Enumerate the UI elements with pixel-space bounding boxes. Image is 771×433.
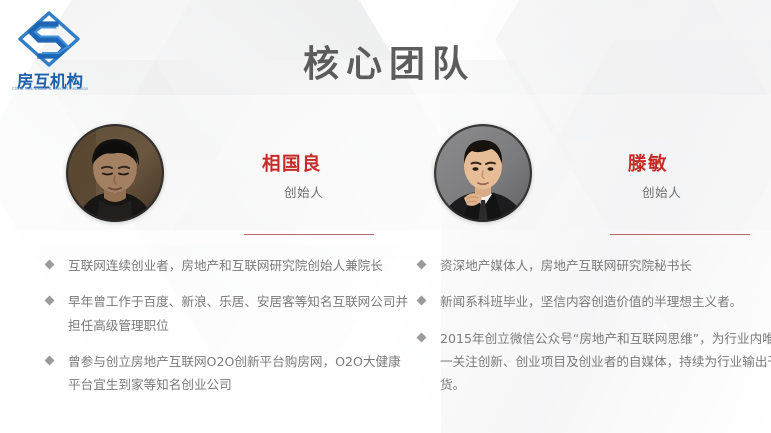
member-header: 滕敏 创始人 [390, 118, 762, 238]
member-header: 相国良 创始人 [18, 118, 390, 238]
member-divider [610, 234, 750, 235]
diamond-bullet-icon [45, 355, 55, 365]
list-item-text: 早年曾工作于百度、新浪、乐居、安居客等知名互联网公司并担任高级管理职位 [68, 290, 410, 337]
team-members: 相国良 创始人 互联网连续创业者，房地产和互联网研究院创始人兼院长 早年曾工作于… [0, 118, 771, 433]
member-divider [244, 234, 374, 235]
list-item: 2015年创立微信公众号“房地产和互联网思维”，为行业内唯一关注创新、创业项目及… [410, 327, 771, 397]
avatar [434, 124, 532, 222]
list-item: 互联网连续创业者，房地产和互联网研究院创始人兼院长 [38, 254, 410, 277]
list-item-text: 新闻系科班毕业，坚信内容创造价值的半理想主义者。 [440, 290, 771, 313]
list-item: 早年曾工作于百度、新浪、乐居、安居客等知名互联网公司并担任高级管理职位 [38, 290, 410, 337]
list-item-text: 资深地产媒体人，房地产互联网研究院秘书长 [440, 254, 771, 277]
avatar [66, 124, 164, 222]
member-bullet-list: 互联网连续创业者，房地产和互联网研究院创始人兼院长 早年曾工作于百度、新浪、乐居… [18, 254, 410, 409]
member-role: 创始人 [642, 182, 681, 201]
team-member-card: 相国良 创始人 互联网连续创业者，房地产和互联网研究院创始人兼院长 早年曾工作于… [18, 118, 390, 433]
member-role: 创始人 [284, 182, 323, 201]
list-item: 新闻系科班毕业，坚信内容创造价值的半理想主义者。 [410, 290, 771, 313]
list-item: 曾参与创立房地产互联网O2O创新平台购房网，O2O大健康平台宜生到家等知名创业公… [38, 350, 410, 397]
team-member-card: 滕敏 创始人 资深地产媒体人，房地产互联网研究院秘书长 新闻系科班毕业，坚信内容… [390, 118, 762, 433]
diamond-bullet-icon [45, 260, 55, 270]
diamond-bullet-icon [417, 296, 427, 306]
diamond-bullet-icon [45, 296, 55, 306]
list-item: 资深地产媒体人，房地产互联网研究院秘书长 [410, 254, 771, 277]
list-item-text: 曾参与创立房地产互联网O2O创新平台购房网，O2O大健康平台宜生到家等知名创业公… [68, 350, 410, 397]
diamond-bullet-icon [417, 260, 427, 270]
list-item-text: 互联网连续创业者，房地产和互联网研究院创始人兼院长 [68, 254, 410, 277]
member-name: 相国良 [262, 150, 322, 176]
list-item-text: 2015年创立微信公众号“房地产和互联网思维”，为行业内唯一关注创新、创业项目及… [440, 327, 771, 397]
member-bullet-list: 资深地产媒体人，房地产互联网研究院秘书长 新闻系科班毕业，坚信内容创造价值的半理… [390, 254, 771, 409]
page-title: 核心团队 [0, 35, 771, 87]
diamond-bullet-icon [417, 332, 427, 342]
team-slide: 房互机构 China Real Estate & Internet Instit… [0, 0, 771, 433]
member-name: 滕敏 [628, 150, 668, 176]
